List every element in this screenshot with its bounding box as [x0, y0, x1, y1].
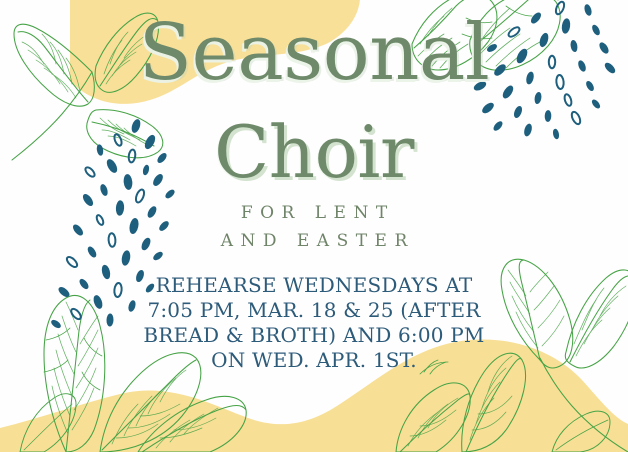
text-layer: Seasonal Choir FOR LENT AND EASTER REHEA… [0, 0, 628, 452]
body-line: ON WED. APR. 1ST. [0, 348, 628, 373]
body-line: 7:05 PM, MAR. 18 & 25 (AFTER [0, 298, 628, 323]
body-line: REHEARSE WEDNESDAYS AT [0, 273, 628, 298]
title-line-seasonal: Seasonal [0, 14, 628, 92]
seasonal-choir-poster: Seasonal Choir FOR LENT AND EASTER REHEA… [0, 0, 628, 452]
rehearsal-details-block: REHEARSE WEDNESDAYS AT 7:05 PM, MAR. 18 … [0, 273, 628, 373]
title-line-choir: Choir [0, 116, 628, 188]
subtitle-line-and-easter: AND EASTER [0, 233, 628, 250]
subtitle-line-for-lent: FOR LENT [0, 205, 628, 222]
body-line: BREAD & BROTH) AND 6:00 PM [0, 323, 628, 348]
